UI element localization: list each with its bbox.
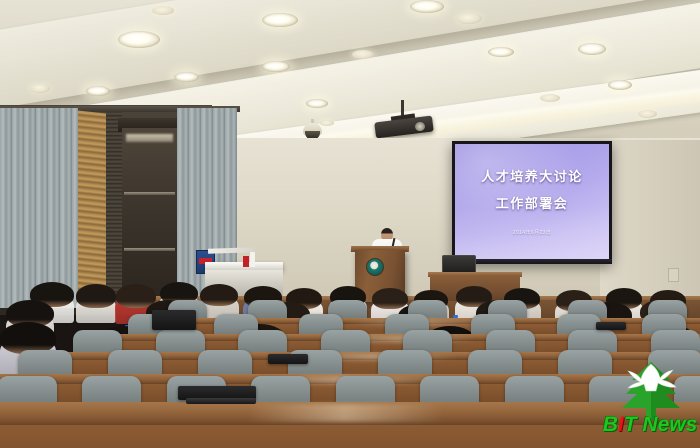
phone-device (186, 398, 256, 404)
table-item-white (250, 252, 255, 267)
downlight-icon (352, 50, 374, 59)
watermark-t: T (624, 413, 637, 436)
downlight-icon (262, 13, 298, 27)
alcove-shelf (124, 192, 175, 195)
watermark: BIT News (600, 358, 700, 446)
downlight-icon (174, 72, 199, 82)
laptop-device (596, 322, 626, 330)
dark-column (106, 112, 122, 308)
downlight-icon (578, 43, 606, 55)
downlight-icon (540, 94, 560, 102)
person-head (200, 284, 238, 306)
desk-highlight (246, 404, 444, 422)
institution-emblem-icon (366, 258, 384, 276)
screen-bottom-bar (452, 259, 612, 264)
downlight-icon (152, 6, 174, 15)
desk-front (0, 425, 700, 448)
watermark-news: News (637, 413, 698, 436)
lecture-hall-photo: 人才培养大讨论 工作部署会 2014年6月23日 BIT News (0, 0, 700, 448)
screen-surface: 人才培养大讨论 工作部署会 2014年6月23日 (455, 144, 609, 260)
pine-tree-dove-logo-icon (618, 358, 684, 420)
table-item-red (243, 256, 249, 267)
wall-alcove (122, 128, 177, 308)
person-head (372, 288, 408, 309)
wall-outlet (668, 268, 679, 282)
downlight-icon (456, 13, 482, 24)
laptop-device (268, 354, 308, 364)
alcove-shelf (124, 248, 175, 251)
slide-date: 2014年6月23日 (455, 229, 609, 236)
slide-subtitle: 工作部署会 (455, 193, 609, 212)
downlight-icon (306, 99, 328, 108)
watermark-text: BIT News (600, 413, 700, 437)
downlight-icon (86, 86, 110, 96)
curtain-left (0, 108, 78, 308)
downlight-icon (30, 84, 50, 93)
downlight-icon (262, 61, 290, 72)
wood-slat-panel (78, 111, 106, 310)
downlight-icon (488, 47, 514, 57)
slide-title: 人才培养大讨论 (455, 166, 609, 185)
ceiling-projector-icon (375, 100, 433, 140)
downlight-icon (638, 110, 657, 118)
downlight-icon (320, 120, 334, 126)
laptop-device (152, 310, 196, 330)
watermark-b: B (603, 413, 618, 436)
downlight-icon (410, 0, 444, 13)
projection-screen: 人才培养大讨论 工作部署会 2014年6月23日 (452, 141, 612, 263)
downlight-icon (608, 80, 632, 90)
downlight-icon (118, 31, 160, 48)
person-head (76, 284, 116, 308)
alcove-light (126, 134, 173, 142)
